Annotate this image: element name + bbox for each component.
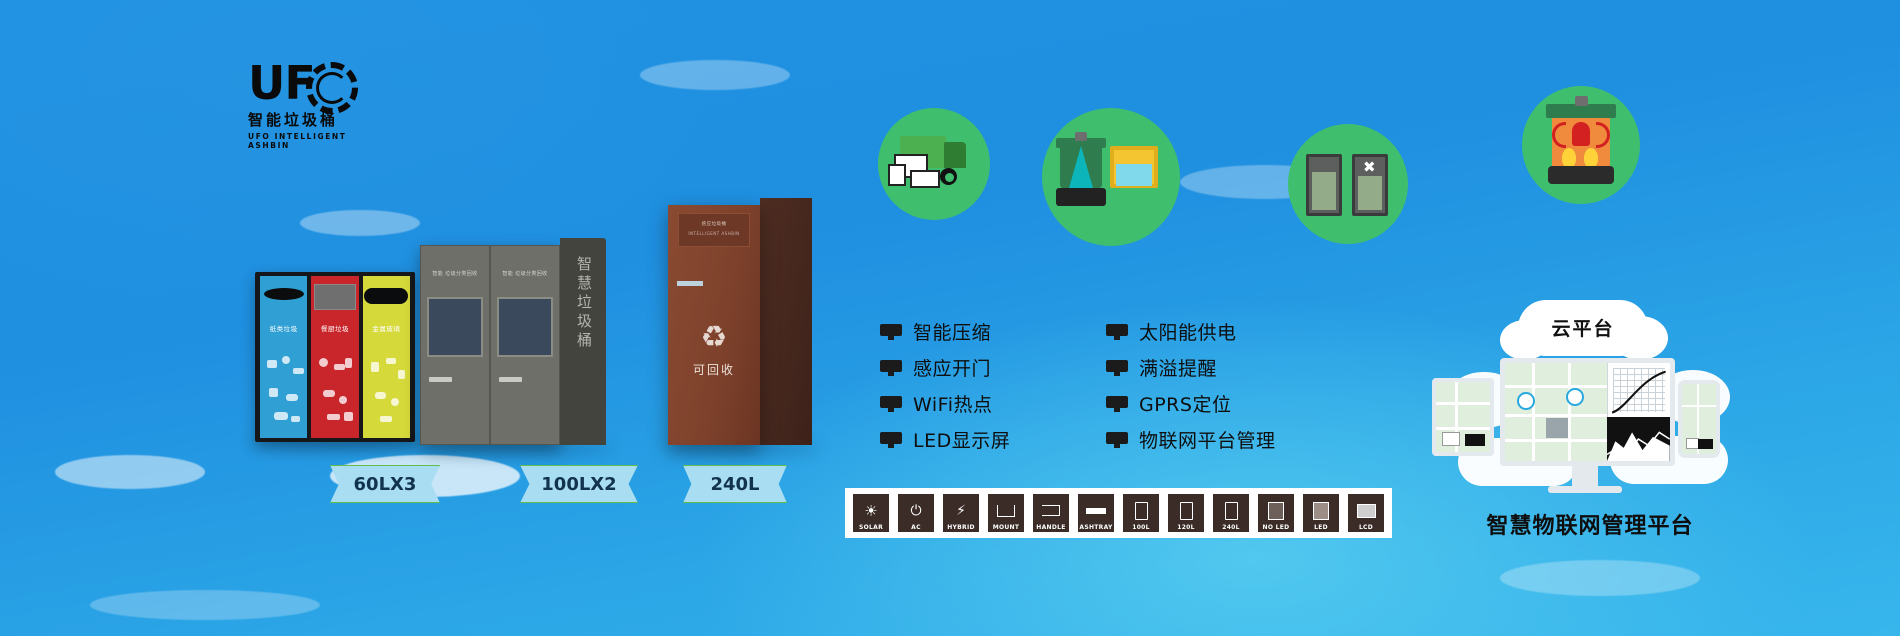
waste-glyphs bbox=[311, 338, 358, 438]
waste-glyphs bbox=[363, 338, 410, 438]
plug-icon: ⏻ bbox=[898, 497, 934, 524]
monitor-icon bbox=[1106, 396, 1128, 412]
spec-caption: HYBRID bbox=[947, 524, 975, 531]
logo-english-name: UFO INTELLIGENT ASHBIN bbox=[248, 132, 368, 150]
logo-inner-ring-icon bbox=[316, 72, 348, 104]
device-laptop-icon bbox=[910, 170, 940, 188]
spec-icon-no-led: NO LED bbox=[1256, 492, 1296, 534]
cloud-decoration bbox=[300, 210, 420, 236]
bin-screen-caption: 智能 垃圾分类回收 bbox=[491, 270, 559, 277]
brown-recycling-bin: 感应垃圾桶 INTELLIGENT ASHBIN ♻ 可回收 bbox=[668, 205, 760, 445]
yellow-bin-content-icon bbox=[1116, 164, 1152, 186]
platform-caption: 智慧物联网管理平台 bbox=[1440, 508, 1740, 540]
monitor-icon bbox=[1106, 360, 1128, 376]
area-chart bbox=[1607, 417, 1670, 461]
monitor-icon bbox=[880, 324, 902, 340]
spec-caption: 100L bbox=[1132, 524, 1150, 531]
building-icon bbox=[1546, 418, 1568, 438]
panel-line-2: INTELLIGENT ASHBIN bbox=[679, 231, 749, 236]
bin-opening bbox=[364, 288, 408, 304]
panel-line-1: 感应垃圾桶 bbox=[679, 221, 749, 227]
bin-half: 智能 垃圾分类回收 bbox=[420, 245, 490, 445]
spec-icon-120l: 120L bbox=[1166, 492, 1206, 534]
bin-handle bbox=[429, 377, 452, 382]
feature-item: 智能压缩 bbox=[880, 318, 1084, 345]
bin-240l-icon bbox=[1213, 497, 1249, 524]
capacity-ribbon-brown: 240L bbox=[683, 465, 787, 503]
spec-caption: MOUNT bbox=[993, 524, 1020, 531]
twin-bin-vertical-text: 智慧垃圾桶 bbox=[574, 256, 595, 351]
spec-caption: HANDLE bbox=[1036, 524, 1065, 531]
ashtray-icon bbox=[1078, 497, 1114, 524]
bin-120l-icon bbox=[1168, 497, 1204, 524]
spec-caption: AC bbox=[911, 524, 921, 531]
capacity-ribbon-twin: 100LX2 bbox=[520, 465, 638, 503]
handle-icon bbox=[1033, 497, 1069, 524]
scan-beam-icon bbox=[1069, 146, 1093, 188]
flame-icon bbox=[1584, 148, 1598, 168]
spec-icon-strip: ☀SOLAR ⏻AC ⚡HYBRID MOUNT HANDLE ASHTRAY … bbox=[845, 488, 1392, 538]
map-thumbnail bbox=[1436, 382, 1490, 452]
spec-caption: SOLAR bbox=[859, 524, 883, 531]
bin-screen-caption: 智能 垃圾分类回收 bbox=[421, 270, 489, 277]
feature-label: 太阳能供电 bbox=[1139, 318, 1237, 345]
twin-bin-side-panel: 智慧垃圾桶 bbox=[560, 238, 606, 445]
ribbon-text: 100LX2 bbox=[541, 474, 616, 495]
cloud-platform-label: 云平台 bbox=[1518, 314, 1648, 341]
bin-handle bbox=[499, 377, 522, 382]
alarm-sensor-icon bbox=[1575, 96, 1588, 106]
cloud-decoration bbox=[640, 60, 790, 90]
spec-caption: 120L bbox=[1177, 524, 1195, 531]
brand-logo: UF 智能垃圾桶 UFO INTELLIGENT ASHBIN bbox=[248, 60, 368, 160]
capacity-ribbon-triple: 60LX3 bbox=[330, 465, 440, 503]
feature-item: 感应开门 bbox=[880, 354, 1084, 381]
alarm-bell-icon bbox=[1572, 122, 1590, 146]
cloud-decoration bbox=[90, 590, 320, 620]
feature-label: 满溢提醒 bbox=[1139, 354, 1217, 381]
spec-icon-solar: ☀SOLAR bbox=[851, 492, 891, 534]
spec-caption: 240L bbox=[1222, 524, 1240, 531]
circle-fire-alarm bbox=[1522, 86, 1640, 204]
bin-segment: 纸类垃圾 bbox=[260, 276, 307, 438]
bin-segment: 餐厨垃圾 bbox=[311, 276, 358, 438]
scan-sensor-icon bbox=[1075, 132, 1087, 141]
feature-item: GPRS定位 bbox=[1106, 390, 1310, 417]
compaction-bin-right-fill bbox=[1358, 176, 1382, 210]
bin-half: 智能 垃圾分类回收 bbox=[490, 245, 560, 445]
truck-wheel-inner bbox=[945, 173, 954, 182]
monitor-icon bbox=[880, 360, 902, 376]
feature-label: GPRS定位 bbox=[1139, 390, 1231, 417]
chart-curve bbox=[1608, 363, 1670, 417]
spec-icon-240l: 240L bbox=[1211, 492, 1251, 534]
device-tablet-icon bbox=[888, 164, 906, 186]
spec-icon-handle: HANDLE bbox=[1031, 492, 1071, 534]
triple-recycling-bin: 纸类垃圾 餐厨垃圾 bbox=[255, 272, 415, 442]
waste-glyphs bbox=[260, 338, 307, 438]
desktop-monitor bbox=[1500, 358, 1675, 466]
feature-label: WiFi热点 bbox=[913, 390, 992, 417]
monitor-base bbox=[1548, 486, 1622, 493]
recycle-icon: ♻ bbox=[668, 323, 760, 353]
bin-segment: 金属玻璃 bbox=[363, 276, 410, 438]
product-banner: UF 智能垃圾桶 UFO INTELLIGENT ASHBIN 纸类垃圾 bbox=[0, 0, 1900, 636]
feature-item: 物联网平台管理 bbox=[1106, 426, 1310, 453]
monitor-icon bbox=[1106, 324, 1128, 340]
spec-caption: LCD bbox=[1359, 524, 1373, 531]
iot-platform-illustration: 云平台 bbox=[1440, 300, 1740, 530]
bin-100l-icon bbox=[1123, 497, 1159, 524]
feature-item: LED显示屏 bbox=[880, 426, 1084, 453]
hybrid-bolt-icon: ⚡ bbox=[943, 497, 979, 524]
spec-icon-hybrid: ⚡HYBRID bbox=[941, 492, 981, 534]
bin-segment-label: 纸类垃圾 bbox=[270, 323, 298, 333]
cloud-decoration bbox=[55, 455, 205, 489]
bin-opening bbox=[264, 288, 304, 300]
spec-icon-led: LED bbox=[1301, 492, 1341, 534]
spec-icon-ac: ⏻AC bbox=[896, 492, 936, 534]
brown-bin-side bbox=[760, 198, 812, 445]
logo-chinese-name: 智能垃圾桶 bbox=[248, 109, 368, 130]
spec-caption: ASHTRAY bbox=[1079, 524, 1112, 531]
feature-item: WiFi热点 bbox=[880, 390, 1084, 417]
feature-list: 智能压缩 太阳能供电 感应开门 满溢提醒 WiFi热点 GPRS定位 LED显示… bbox=[880, 318, 1310, 453]
bin-segment-label: 金属玻璃 bbox=[372, 323, 400, 333]
compress-arrow-icon: ✖ bbox=[1363, 160, 1376, 175]
feature-label: 智能压缩 bbox=[913, 318, 991, 345]
alarm-bin-lid-icon bbox=[1546, 104, 1616, 118]
feature-label: 感应开门 bbox=[913, 354, 991, 381]
circle-smart-collection-truck bbox=[878, 108, 990, 220]
ribbon-text: 240L bbox=[710, 474, 759, 495]
map-panel bbox=[1505, 363, 1607, 461]
mobile-phone-device bbox=[1678, 380, 1720, 458]
monitor-stand bbox=[1572, 466, 1598, 488]
compaction-bin-left-fill bbox=[1312, 172, 1336, 210]
alarm-bin-base-icon bbox=[1548, 166, 1614, 184]
map-marker-icon bbox=[1566, 388, 1584, 406]
bin-opening bbox=[314, 284, 356, 310]
feature-item: 满溢提醒 bbox=[1106, 354, 1310, 381]
feature-item: 太阳能供电 bbox=[1106, 318, 1310, 345]
monitor-icon bbox=[880, 432, 902, 448]
monitor-icon bbox=[880, 396, 902, 412]
circle-waste-sorting-scan bbox=[1042, 108, 1180, 246]
line-chart-panel bbox=[1607, 363, 1670, 417]
sun-icon: ☀ bbox=[853, 497, 889, 524]
spec-icon-ashtray: ASHTRAY bbox=[1076, 492, 1116, 534]
spec-caption: NO LED bbox=[1263, 524, 1290, 531]
cloud-decoration bbox=[1500, 560, 1700, 596]
ribbon-text: 60LX3 bbox=[354, 474, 417, 495]
truck-cab-icon bbox=[944, 142, 966, 168]
bin-top-panel: 感应垃圾桶 INTELLIGENT ASHBIN bbox=[678, 213, 750, 247]
bin-card-slot bbox=[677, 281, 703, 286]
tablet-device bbox=[1432, 378, 1494, 456]
led-icon bbox=[1303, 497, 1339, 524]
no-led-icon bbox=[1258, 497, 1294, 524]
spec-icon-100l: 100L bbox=[1121, 492, 1161, 534]
circle-compaction-pair: ✖ bbox=[1288, 124, 1408, 244]
twin-smart-bin: 智能 垃圾分类回收 智能 垃圾分类回收 bbox=[420, 245, 560, 445]
map-thumbnail bbox=[1682, 384, 1716, 454]
feature-label: LED显示屏 bbox=[913, 426, 1010, 453]
spec-icon-lcd: LCD bbox=[1346, 492, 1386, 534]
scan-tray-icon bbox=[1056, 188, 1106, 206]
bin-segment-label: 餐厨垃圾 bbox=[321, 323, 349, 333]
mount-icon bbox=[988, 497, 1024, 524]
dark-chart-panel bbox=[1607, 417, 1670, 461]
lcd-icon bbox=[1348, 497, 1384, 524]
recycle-label: 可回收 bbox=[668, 361, 760, 378]
bin-lcd-screen bbox=[497, 297, 553, 356]
spec-caption: LED bbox=[1314, 524, 1328, 531]
feature-label: 物联网平台管理 bbox=[1139, 426, 1276, 453]
monitor-icon bbox=[1106, 432, 1128, 448]
spec-icon-mount: MOUNT bbox=[986, 492, 1026, 534]
bin-lcd-screen bbox=[427, 297, 483, 356]
flame-icon bbox=[1562, 148, 1576, 168]
